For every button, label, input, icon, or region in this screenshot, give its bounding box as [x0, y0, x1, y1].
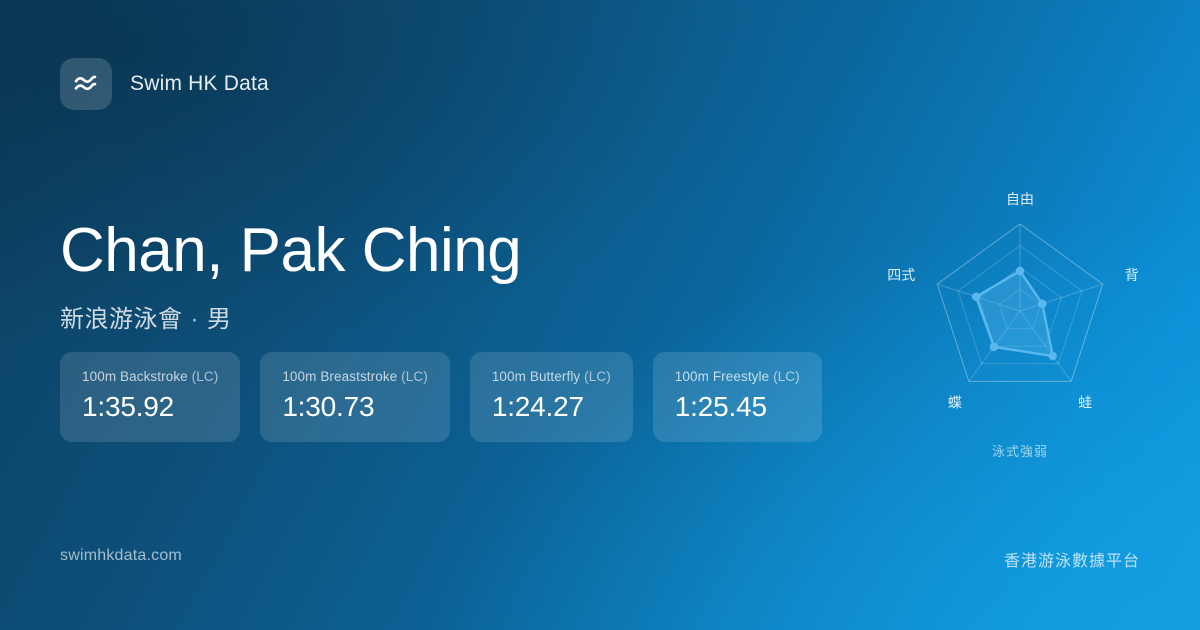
stat-label: 100m Butterfly (LC): [492, 369, 611, 384]
radar-axis-label: 蛙: [1078, 394, 1092, 410]
stat-course: (LC): [192, 369, 219, 384]
radar-caption: 泳式強弱: [870, 441, 1170, 460]
athlete-meta: 新浪游泳會·男: [60, 299, 521, 334]
stat-card[interactable]: 100m Butterfly (LC) 1:24.27: [470, 352, 633, 442]
stat-course: (LC): [773, 369, 800, 384]
footer-tagline: 香港游泳數據平台: [1004, 547, 1140, 571]
radar-axis-label: 背: [1125, 267, 1139, 283]
stat-event: 100m Freestyle: [675, 369, 769, 384]
stat-event: 100m Butterfly: [492, 369, 580, 384]
stat-value: 1:25.45: [675, 391, 800, 423]
stat-label: 100m Backstroke (LC): [82, 369, 218, 384]
og-card: Swim HK Data Chan, Pak Ching 新浪游泳會·男 100…: [0, 0, 1200, 630]
brand-logo[interactable]: Swim HK Data: [60, 58, 269, 110]
radar-axis-label: 自由: [1006, 191, 1034, 207]
radar-data-point[interactable]: [1038, 300, 1046, 308]
stat-course: (LC): [584, 369, 611, 384]
stat-value: 1:30.73: [282, 391, 428, 423]
waves-icon: [60, 58, 112, 110]
radar-axis-label: 四式: [887, 267, 915, 283]
radar-data-point[interactable]: [1049, 352, 1057, 360]
stat-value: 1:24.27: [492, 391, 611, 423]
radar-series-area: [976, 271, 1053, 356]
radar-chart: 自由背蛙蝶四式 泳式強弱: [870, 160, 1170, 480]
stat-label: 100m Breaststroke (LC): [282, 369, 428, 384]
footer-site[interactable]: swimhkdata.com: [60, 547, 182, 565]
stat-event: 100m Backstroke: [82, 369, 188, 384]
stat-card[interactable]: 100m Backstroke (LC) 1:35.92: [60, 352, 240, 442]
radar-data-point[interactable]: [990, 343, 998, 351]
stat-event: 100m Breaststroke: [282, 369, 397, 384]
hero: Chan, Pak Ching 新浪游泳會·男: [60, 218, 521, 334]
brand-name: Swim HK Data: [130, 72, 269, 96]
page-title: Chan, Pak Ching: [60, 218, 521, 283]
stat-label: 100m Freestyle (LC): [675, 369, 800, 384]
meta-separator: ·: [183, 306, 208, 333]
stat-value: 1:35.92: [82, 391, 218, 423]
stat-card-list: 100m Backstroke (LC) 1:35.92 100m Breast…: [60, 352, 822, 442]
radar-axis-label: 蝶: [948, 394, 962, 410]
stat-card[interactable]: 100m Breaststroke (LC) 1:30.73: [260, 352, 450, 442]
athlete-gender: 男: [207, 306, 232, 333]
radar-data-point[interactable]: [1016, 267, 1024, 275]
stat-course: (LC): [401, 369, 428, 384]
radar-data-point[interactable]: [972, 293, 980, 301]
stat-card[interactable]: 100m Freestyle (LC) 1:25.45: [653, 352, 822, 442]
athlete-club: 新浪游泳會: [60, 306, 183, 333]
